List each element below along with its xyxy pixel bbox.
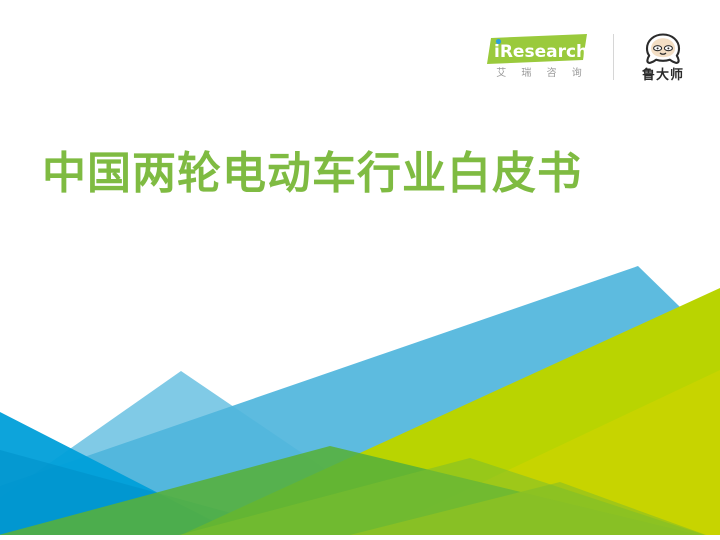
cover-slide: iResearch 艾 瑞 咨 询 鲁大师 中国两轮电动车行业白皮书 ©2022… — [0, 0, 720, 540]
header-logos: iResearch 艾 瑞 咨 询 鲁大师 — [483, 26, 694, 88]
iresearch-subtitle: 艾 瑞 咨 询 — [490, 68, 588, 80]
partner-name: 鲁大师 — [642, 68, 684, 83]
vertical-divider-icon — [613, 34, 614, 80]
lu-master-face-icon — [640, 32, 686, 66]
partner-logo: 鲁大师 — [632, 32, 694, 83]
svg-text:iResearch: iResearch — [494, 42, 588, 62]
iresearch-logo-icon: iResearch — [487, 34, 591, 64]
iresearch-logo: iResearch 艾 瑞 咨 询 — [483, 34, 595, 80]
geometric-mountain-graphic — [0, 250, 720, 540]
page-title: 中国两轮电动车行业白皮书 — [42, 146, 582, 202]
